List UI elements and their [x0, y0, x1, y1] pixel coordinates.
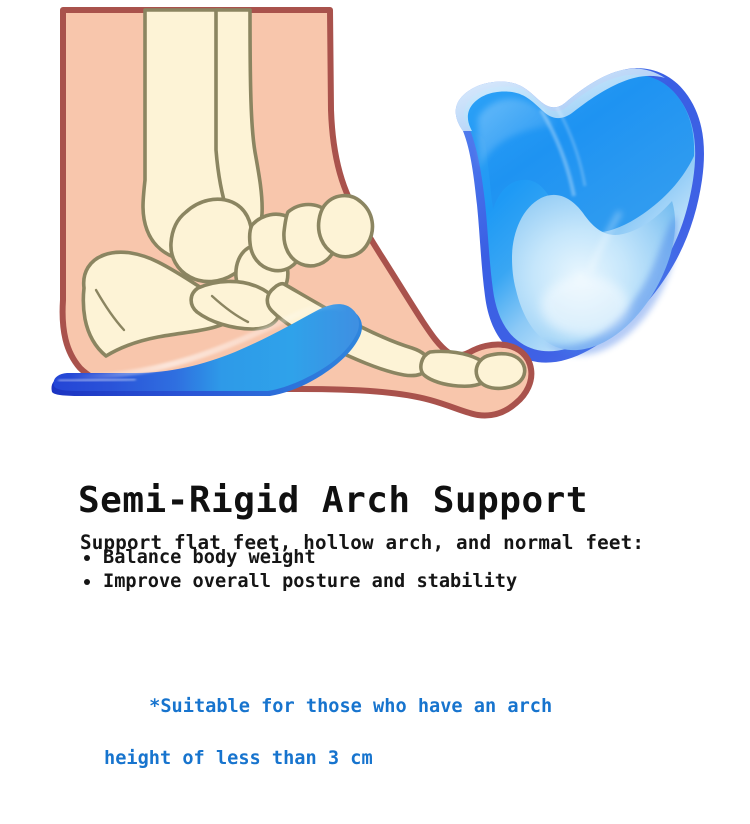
bullet-dot-icon	[84, 579, 90, 585]
benefits-list: Balance body weight Improve overall post…	[80, 546, 517, 594]
footnote-line-1: *Suitable for those who have an arch	[149, 696, 552, 717]
distal-phalanx-bone	[476, 354, 524, 389]
page-title: Semi-Rigid Arch Support	[78, 480, 588, 521]
bullet-dot-icon	[84, 555, 90, 561]
side-insole-heel-shine	[60, 379, 134, 381]
cuneiform-bone-3	[319, 196, 373, 257]
footnote: *Suitable for those who have an arch hei…	[82, 668, 552, 824]
list-item: Improve overall posture and stability	[80, 570, 517, 594]
product-text-block: Semi-Rigid Arch Support Support flat fee…	[0, 440, 750, 750]
list-item-label: Improve overall posture and stability	[103, 571, 517, 592]
insole-3d-hotspot	[541, 276, 629, 336]
gel-insole-3d	[456, 68, 704, 362]
list-item: Balance body weight	[80, 546, 517, 570]
product-feature-page: Semi-Rigid Arch Support Support flat fee…	[0, 0, 750, 750]
list-item-label: Balance body weight	[103, 547, 316, 568]
foot-anatomy-illustration	[0, 0, 750, 440]
